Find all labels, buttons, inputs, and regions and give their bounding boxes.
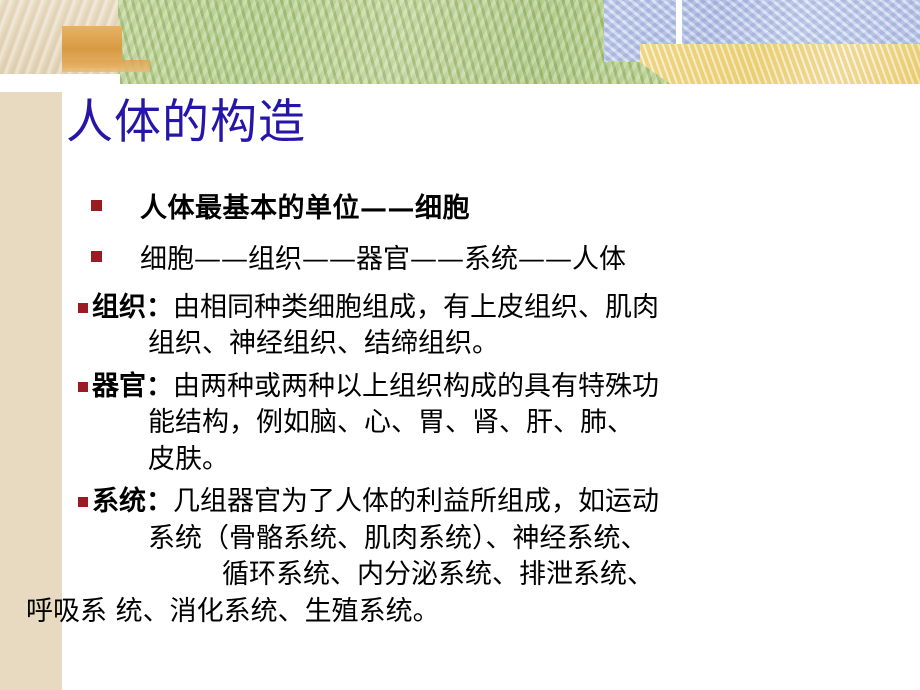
definition-system: 系统：几组器官为了人体的利益所组成，如运动 系统（骨骼系统、肌肉系统）、神经系统… (78, 484, 908, 630)
bullet-text: 人体最基本的单位——细胞 (140, 186, 470, 225)
banner-bottom-white-fill (120, 84, 608, 92)
banner-green-foliage (118, 0, 678, 84)
definition-label: 系统： (92, 486, 173, 517)
square-bullet-icon (78, 497, 88, 507)
definition-body: 组织：由相同种类细胞组成，有上皮组织、肌肉 组织、神经组织、结缔组织。 (92, 290, 659, 363)
bullet-item-basic-unit: 人体最基本的单位——细胞 (91, 186, 908, 225)
definition-tissue: 组织：由相同种类细胞组成，有上皮组织、肌肉 组织、神经组织、结缔组织。 (78, 290, 908, 363)
square-bullet-icon (78, 382, 88, 392)
definition-line: 由两种或两种以上组织构成的具有特殊功 (173, 371, 659, 402)
bullet-item-hierarchy: 细胞——组织——器官——系统——人体 (91, 237, 908, 276)
definition-line: 呼吸系 统、消化系统、生殖系统。 (26, 594, 659, 630)
definition-line: 系统（骨骼系统、肌肉系统）、神经系统、 (92, 521, 659, 557)
definition-line: 循环系统、内分泌系统、排泄系统、 (92, 557, 659, 593)
slide: 人体的构造 人体最基本的单位——细胞 细胞——组织——器官——系统——人体 组织… (0, 0, 920, 690)
bullet-text: 细胞——组织——器官——系统——人体 (140, 237, 626, 276)
definition-line: 能结构，例如脑、心、胃、肾、肝、肺、 (92, 405, 659, 441)
definition-body: 器官：由两种或两种以上组织构成的具有特殊功 能结构，例如脑、心、胃、肾、肝、肺、… (92, 369, 659, 478)
square-bullet-icon (78, 303, 88, 313)
page-title: 人体的构造 (66, 96, 306, 150)
slide-content: 人体最基本的单位——细胞 细胞——组织——器官——系统——人体 组织：由相同种类… (78, 186, 908, 636)
definition-body: 系统：几组器官为了人体的利益所组成，如运动 系统（骨骼系统、肌肉系统）、神经系统… (92, 484, 659, 630)
definition-label: 组织： (92, 292, 173, 323)
definition-line: 由相同种类细胞组成，有上皮组织、肌肉 (173, 292, 659, 323)
banner-bottom-white-fill-right (608, 84, 920, 92)
definition-label: 器官： (92, 371, 173, 402)
definition-line: 皮肤。 (92, 442, 659, 478)
left-texture-strip (0, 0, 62, 690)
banner-left-white-fill (0, 74, 120, 92)
square-bullet-icon (91, 251, 102, 262)
definition-organ: 器官：由两种或两种以上组织构成的具有特殊功 能结构，例如脑、心、胃、肾、肝、肺、… (78, 369, 908, 478)
square-bullet-icon (91, 200, 102, 211)
decorative-banner (0, 0, 920, 92)
definition-line: 几组器官为了人体的利益所组成，如运动 (173, 486, 659, 517)
definition-line: 组织、神经组织、结缔组织。 (92, 326, 659, 362)
